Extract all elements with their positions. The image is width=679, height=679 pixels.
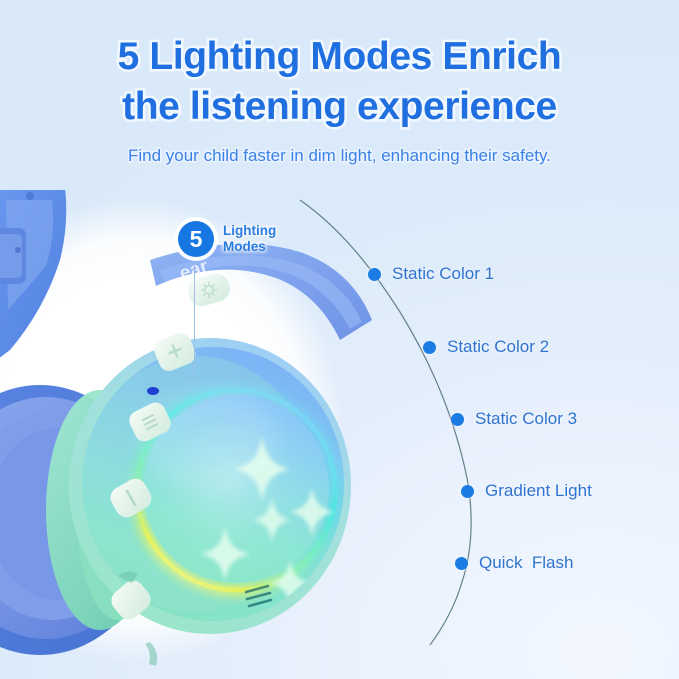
badge-count-circle: 5 xyxy=(178,221,214,257)
lighting-modes-legend: Static Color 1 Static Color 2 Static Col… xyxy=(0,0,679,679)
badge-label-line-2: Modes xyxy=(223,239,276,255)
legend-label-static-color-3: Static Color 3 xyxy=(475,409,577,429)
legend-label-static-color-1: Static Color 1 xyxy=(392,264,494,284)
legend-label-static-color-2: Static Color 2 xyxy=(447,337,549,357)
legend-dot-icon xyxy=(461,485,474,498)
badge-label-line-1: Lighting xyxy=(223,223,276,239)
infographic-canvas: 5 Lighting Modes Enrich the listening ex… xyxy=(0,0,679,679)
legend-dot-icon xyxy=(368,268,381,281)
legend-label-gradient-light: Gradient Light xyxy=(485,481,592,501)
legend-dot-icon xyxy=(423,341,436,354)
legend-label-quick-flash: Quick Flash xyxy=(479,553,573,573)
lighting-modes-badge: 5 Lighting Modes xyxy=(176,219,284,259)
legend-item-gradient-light[interactable]: Gradient Light xyxy=(461,481,592,501)
legend-item-static-color-3[interactable]: Static Color 3 xyxy=(451,409,577,429)
legend-dot-icon xyxy=(451,413,464,426)
badge-count-value: 5 xyxy=(190,228,203,251)
badge-label: Lighting Modes xyxy=(223,223,276,255)
legend-item-static-color-2[interactable]: Static Color 2 xyxy=(423,337,549,357)
legend-dot-icon xyxy=(455,557,468,570)
legend-item-static-color-1[interactable]: Static Color 1 xyxy=(368,264,494,284)
legend-item-quick-flash[interactable]: Quick Flash xyxy=(455,553,573,573)
